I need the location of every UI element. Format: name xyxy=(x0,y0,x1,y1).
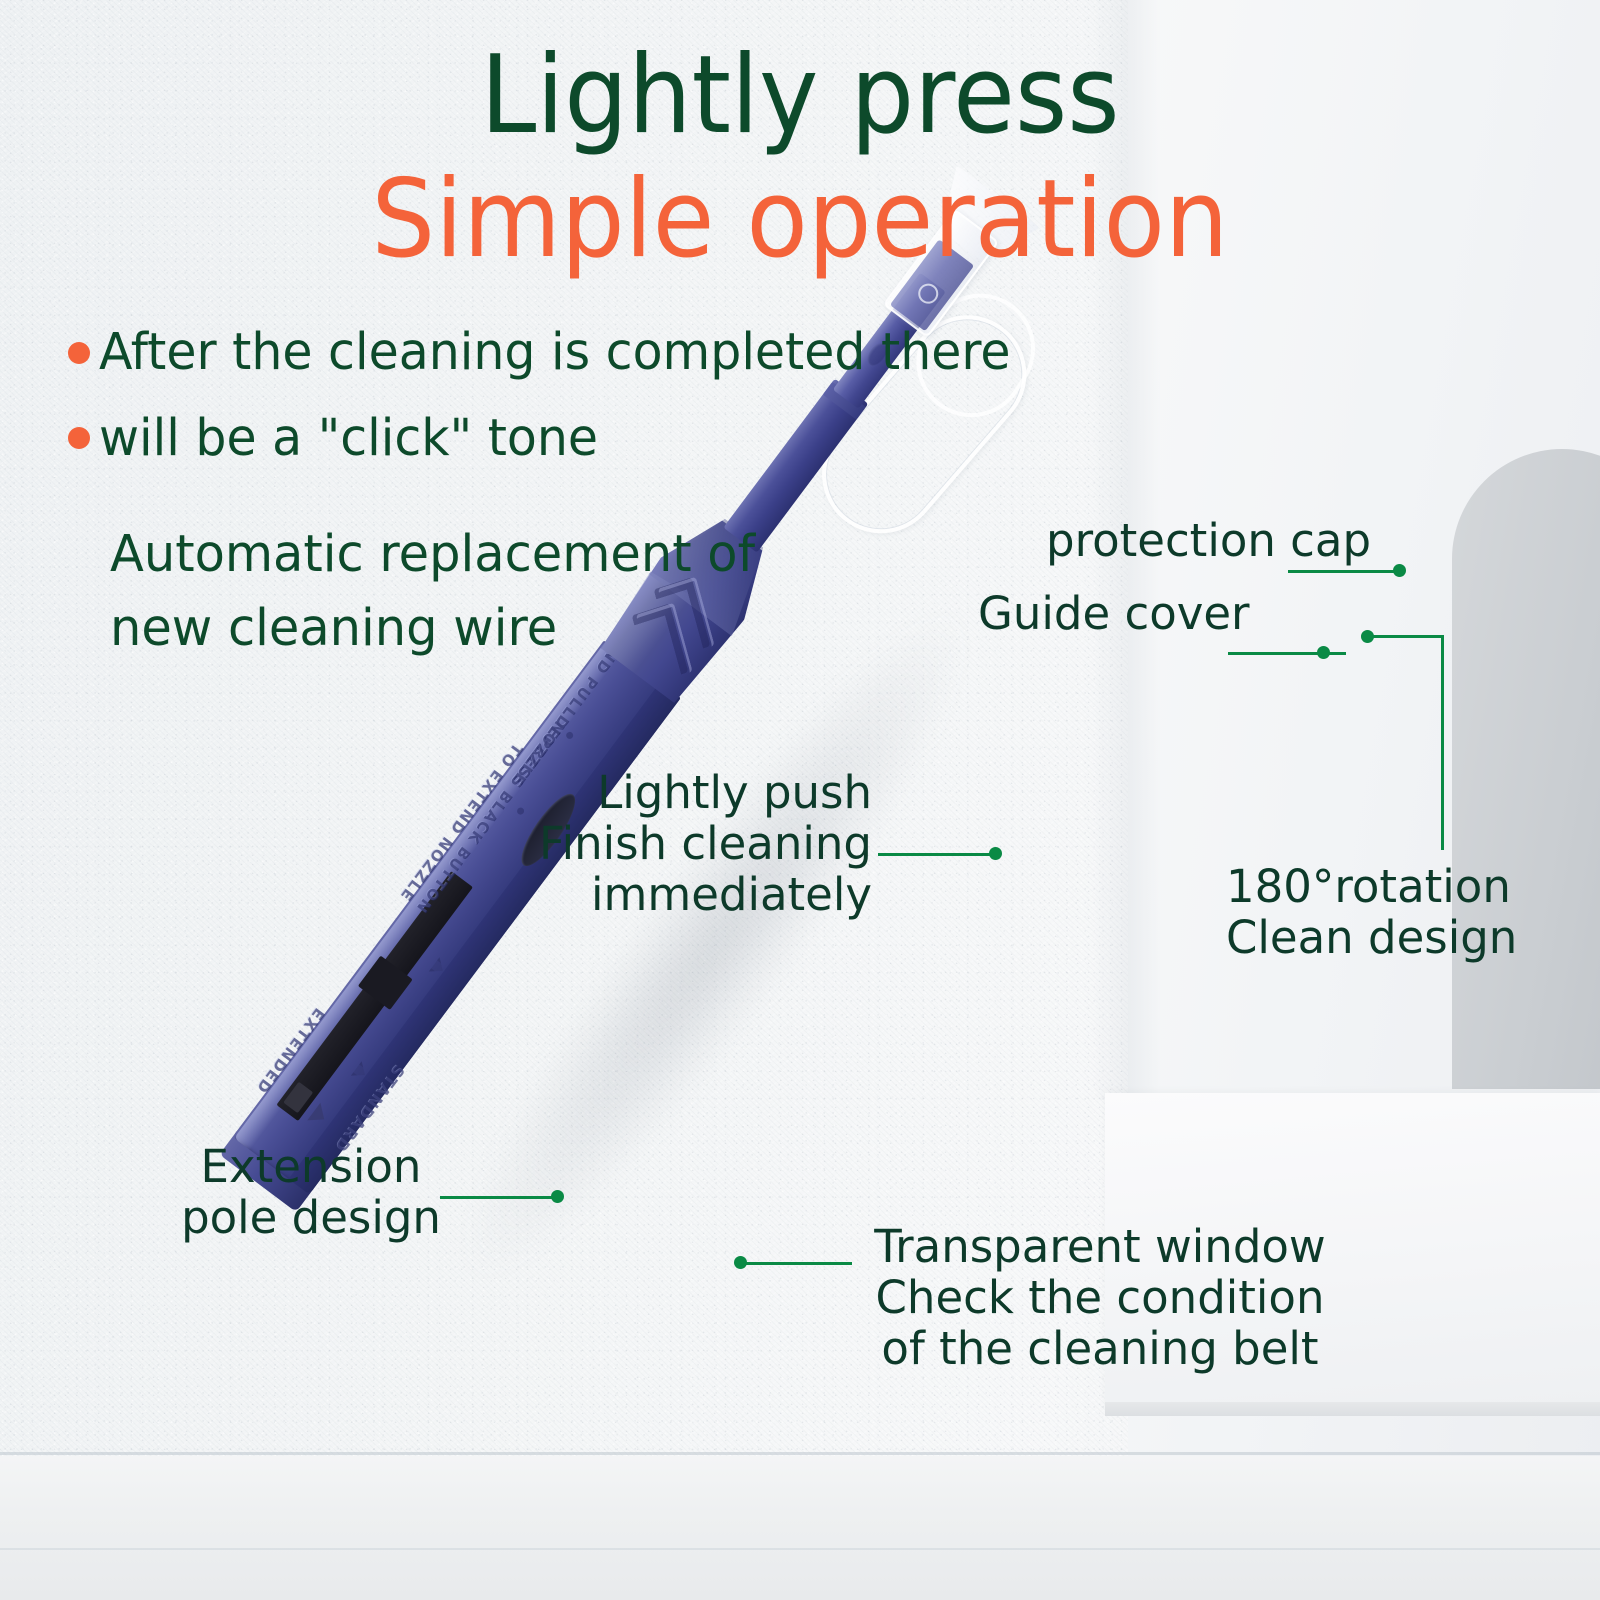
callout-transparent-window: Transparent window Check the condition o… xyxy=(860,1222,1340,1375)
leader-line-lightly-push xyxy=(878,853,996,856)
callout-extension-pole: Extension pole design xyxy=(166,1142,456,1244)
leader-dot-protection-cap xyxy=(1393,564,1406,577)
leader-dot-guide-cover xyxy=(1317,646,1330,659)
leader-line-transparent-window xyxy=(740,1262,852,1265)
leader-dot-extension-pole xyxy=(551,1190,564,1203)
leader-line-rotation-horizontal xyxy=(1367,635,1443,638)
feature-paragraph: Automatic replacement of new cleaning wi… xyxy=(110,518,755,667)
callout-guide-cover: Guide cover xyxy=(978,589,1250,640)
bullet-list: After the cleaning is completed there wi… xyxy=(68,326,1258,497)
callout-protection-cap: protection cap xyxy=(1046,516,1371,567)
headline-line-2: Simple operation xyxy=(56,166,1544,274)
bullet-text: will be a "click" tone xyxy=(99,412,598,466)
list-item: will be a "click" tone xyxy=(68,412,1258,466)
callout-lightly-push: Lightly push Finish cleaning immediately xyxy=(508,768,872,921)
leader-dot-lightly-push xyxy=(989,847,1002,860)
bullet-dot-icon xyxy=(68,427,90,449)
bullet-dot-icon xyxy=(68,342,90,364)
callout-rotation-clean-design: 180°rotation Clean design xyxy=(1226,862,1517,964)
headline-line-1: Lightly press xyxy=(56,42,1544,150)
list-item: After the cleaning is completed there xyxy=(68,326,1258,380)
leader-dot-transparent-window xyxy=(734,1256,747,1269)
leader-line-protection-cap xyxy=(1288,570,1400,573)
leader-line-rotation-vertical xyxy=(1441,635,1444,850)
leader-line-extension-pole xyxy=(440,1196,558,1199)
bullet-text: After the cleaning is completed there xyxy=(99,326,1011,380)
